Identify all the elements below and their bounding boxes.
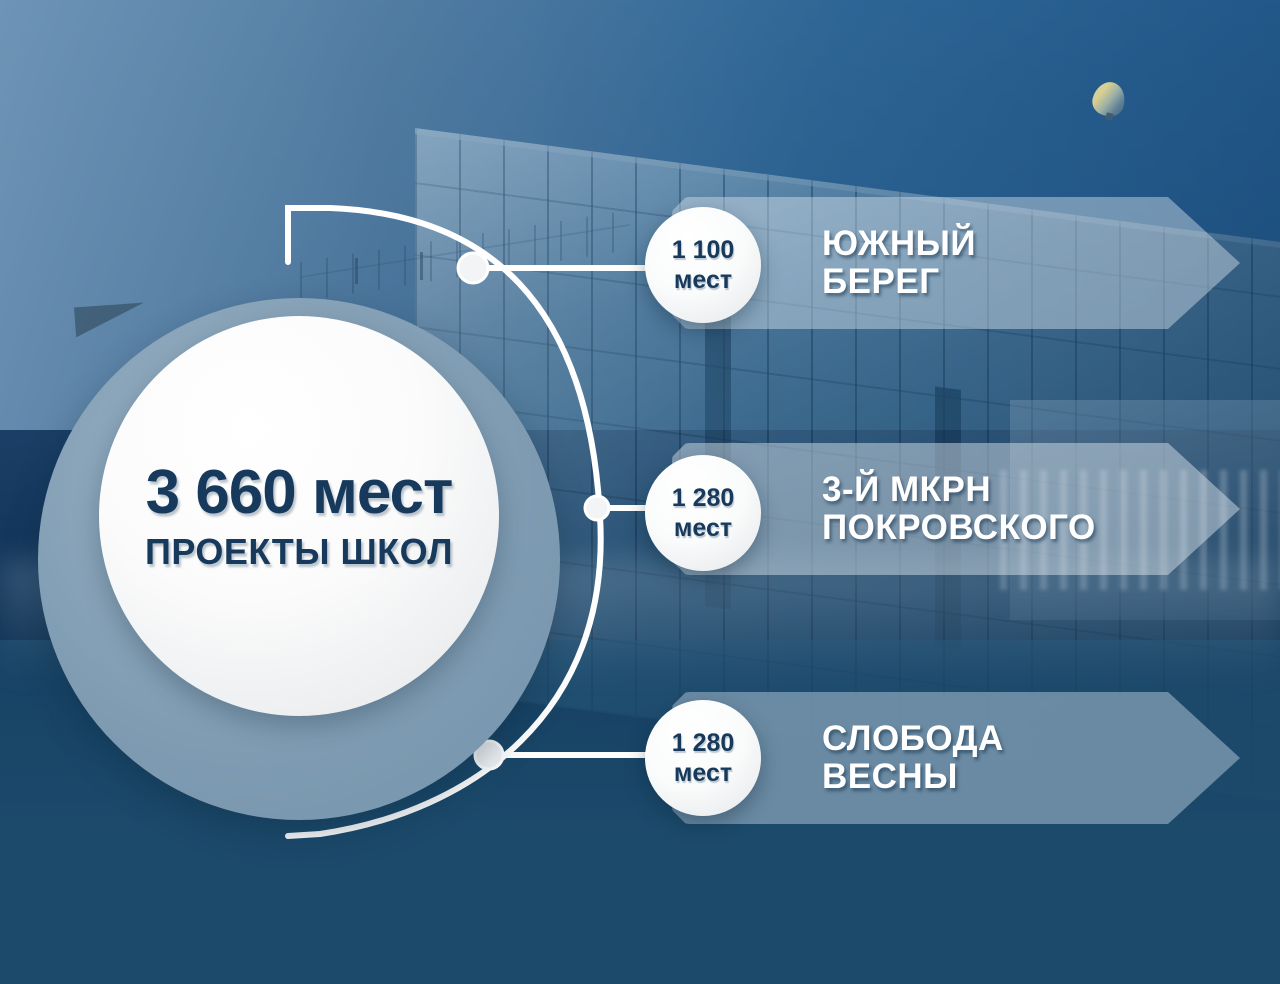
- badge-count-3: 1 280: [672, 731, 735, 756]
- badge-item-3[interactable]: 1 280 мест: [645, 700, 761, 816]
- badge-item-2[interactable]: 1 280 мест: [645, 455, 761, 571]
- badge-unit-1: мест: [674, 268, 732, 293]
- banner-label-2: 3-Й МКРН ПОКРОВСКОГО: [822, 471, 1096, 547]
- infographic-canvas: 3 660 мест ПРОЕКТЫ ШКОЛ ЮЖНЫЙ БЕРЕГ 3-Й …: [0, 0, 1280, 984]
- badge-count-1: 1 100: [672, 238, 735, 263]
- summary-caption: ПРОЕКТЫ ШКОЛ: [145, 534, 453, 570]
- background-roof-triangle: [74, 303, 146, 338]
- summary-circle: 3 660 мест ПРОЕКТЫ ШКОЛ: [99, 316, 499, 716]
- hot-air-balloon-icon: [1093, 82, 1125, 126]
- banner-label-1: ЮЖНЫЙ БЕРЕГ: [822, 225, 976, 301]
- badge-unit-2: мест: [674, 516, 732, 541]
- banner-label-3: СЛОБОДА ВЕСНЫ: [822, 720, 1004, 796]
- background-pole: [420, 252, 423, 280]
- badge-item-1[interactable]: 1 100 мест: [645, 207, 761, 323]
- badge-unit-3: мест: [674, 761, 732, 786]
- background-pole: [355, 258, 358, 284]
- summary-total: 3 660 мест: [146, 462, 453, 524]
- badge-count-2: 1 280: [672, 486, 735, 511]
- balloon-basket: [1105, 112, 1113, 120]
